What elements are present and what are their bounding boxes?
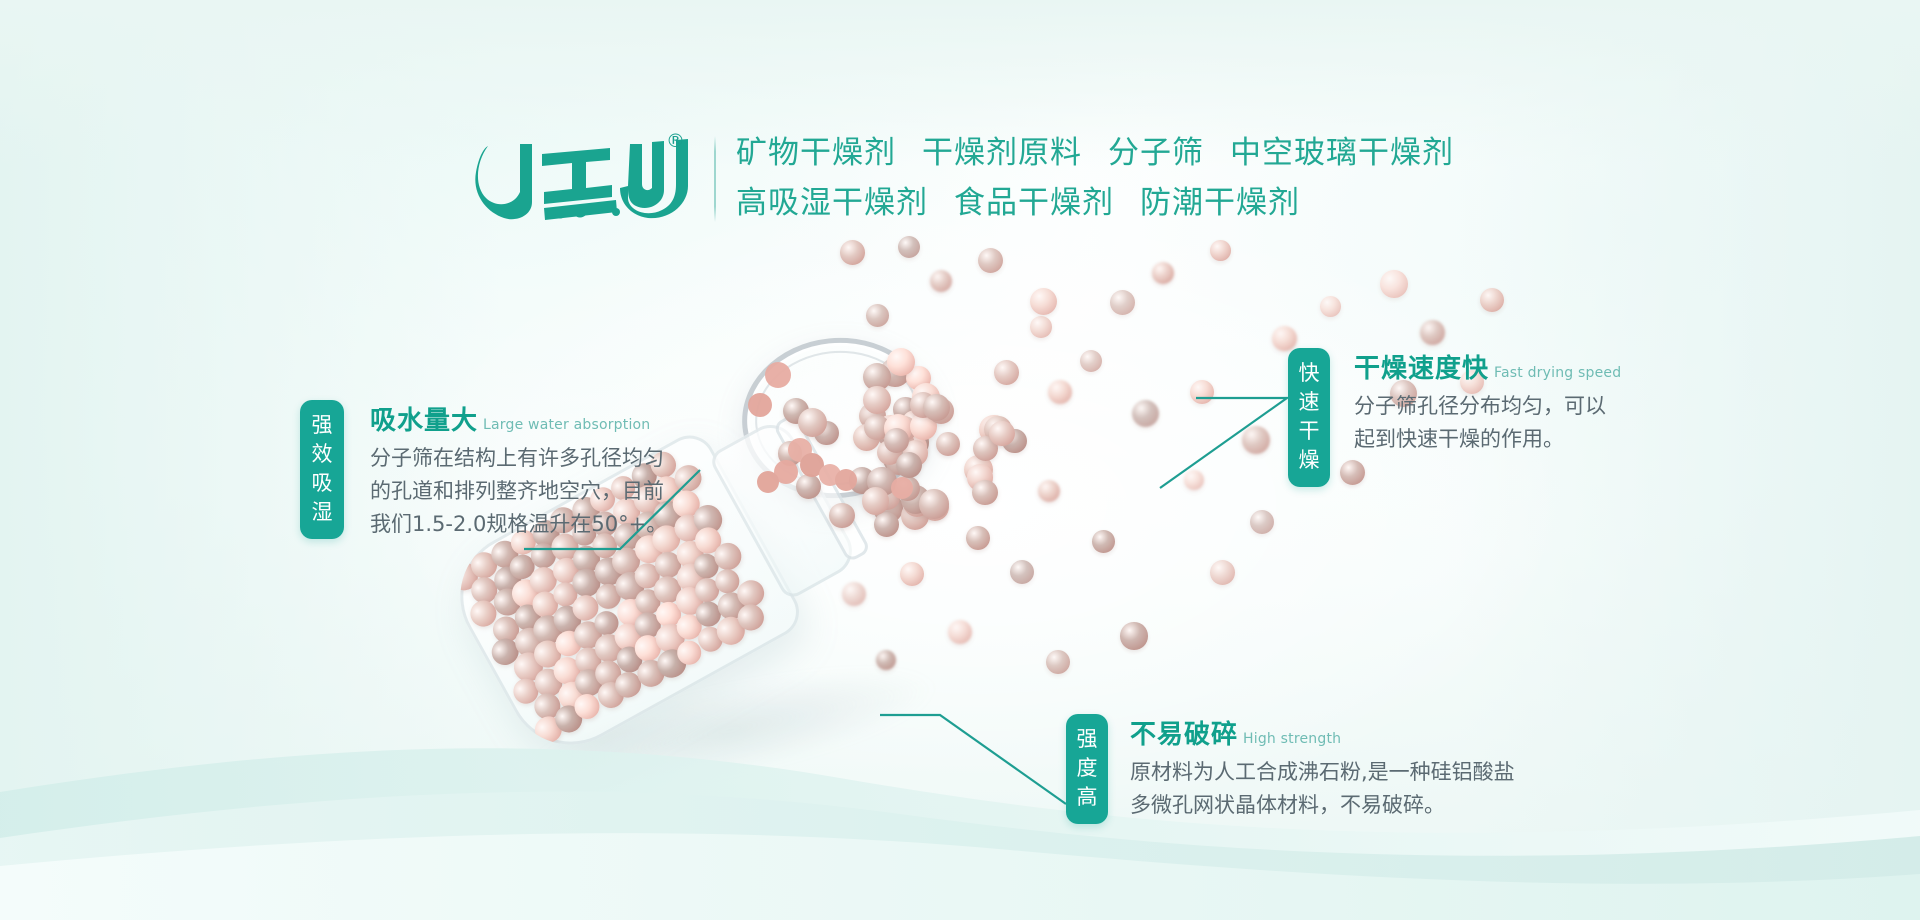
badge-char: 度 xyxy=(1066,754,1108,783)
callout-text: 不易破碎 High strength 原材料为人工合成沸石粉,是一种硅铝酸盐 多… xyxy=(1124,714,1515,822)
callout-badge: 强 效 吸 湿 xyxy=(300,400,344,539)
callout-fast-drying-speed: 快 速 干 燥 干燥速度快 Fast drying speed 分子筛孔径分布均… xyxy=(1288,348,1621,487)
callout-text: 干燥速度快 Fast drying speed 分子筛孔径分布均匀，可以 起到快… xyxy=(1346,348,1621,456)
keyword-list: 矿物干燥剂干燥剂原料分子筛中空玻璃干燥剂 高吸湿干燥剂食品干燥剂防潮干燥剂 xyxy=(736,128,1636,228)
callout-body-line: 分子筛在结构上有许多孔径均匀 xyxy=(370,442,667,475)
callout-title-en: High strength xyxy=(1243,731,1341,747)
callout-body-line: 的孔道和排列整齐地空穴，目前 xyxy=(370,475,667,508)
badge-char: 强 xyxy=(1066,725,1108,754)
callout-large-water-absorption: 强 效 吸 湿 吸水量大 Large water absorption 分子筛在… xyxy=(300,400,667,541)
badge-char: 高 xyxy=(1066,783,1108,812)
connector-top-right xyxy=(1160,398,1287,488)
keyword-line-2: 高吸湿干燥剂食品干燥剂防潮干燥剂 xyxy=(736,178,1636,228)
badge-char: 吸 xyxy=(300,469,344,498)
callout-title: 不易破碎 xyxy=(1130,714,1238,751)
banner-header: ® 矿物干燥剂干燥剂原料分子筛中空玻璃干燥剂 高吸湿干燥剂食品干燥剂防潮干燥剂 xyxy=(0,0,1920,250)
callout-badge: 快 速 干 燥 xyxy=(1288,348,1330,487)
callout-body-line: 原材料为人工合成沸石粉,是一种硅铝酸盐 xyxy=(1130,756,1515,789)
banner-stage: ® 矿物干燥剂干燥剂原料分子筛中空玻璃干燥剂 高吸湿干燥剂食品干燥剂防潮干燥剂 … xyxy=(0,0,1920,920)
callout-heading: 不易破碎 High strength xyxy=(1130,714,1515,751)
callout-high-strength: 强 度 高 不易破碎 High strength 原材料为人工合成沸石粉,是一种… xyxy=(1066,714,1515,824)
keyword-item[interactable]: 矿物干燥剂 xyxy=(736,135,896,171)
callout-title: 干燥速度快 xyxy=(1354,348,1489,385)
keyword-item[interactable]: 高吸湿干燥剂 xyxy=(736,185,928,221)
callout-body-line: 多微孔网状晶体材料，不易破碎。 xyxy=(1130,789,1515,822)
badge-char: 燥 xyxy=(1288,446,1330,475)
callout-body-line: 分子筛孔径分布均匀，可以 xyxy=(1354,390,1621,423)
badge-char: 速 xyxy=(1288,388,1330,417)
callout-body-line: 我们1.5-2.0规格温升在50°+。 xyxy=(370,508,667,541)
callout-body: 分子筛在结构上有许多孔径均匀 的孔道和排列整齐地空穴，目前 我们1.5-2.0规… xyxy=(370,442,667,541)
callout-title-en: Fast drying speed xyxy=(1494,365,1621,381)
callout-text: 吸水量大 Large water absorption 分子筛在结构上有许多孔径… xyxy=(360,400,667,541)
keyword-item[interactable]: 食品干燥剂 xyxy=(954,185,1114,221)
callout-body-line: 起到快速干燥的作用。 xyxy=(1354,423,1621,456)
keyword-item[interactable]: 防潮干燥剂 xyxy=(1140,185,1300,221)
brand-logo[interactable]: ® xyxy=(470,128,700,228)
registered-trademark-icon: ® xyxy=(666,130,685,152)
callout-title-en: Large water absorption xyxy=(483,417,650,433)
callout-title: 吸水量大 xyxy=(370,400,478,437)
badge-char: 快 xyxy=(1288,359,1330,388)
badge-char: 强 xyxy=(300,411,344,440)
header-divider xyxy=(714,136,716,222)
keyword-item[interactable]: 分子筛 xyxy=(1108,135,1204,171)
callout-body: 原材料为人工合成沸石粉,是一种硅铝酸盐 多微孔网状晶体材料，不易破碎。 xyxy=(1130,756,1515,822)
callout-badge: 强 度 高 xyxy=(1066,714,1108,824)
connector-bottom-right-horizontal xyxy=(880,715,1064,750)
callout-body: 分子筛孔径分布均匀，可以 起到快速干燥的作用。 xyxy=(1354,390,1621,456)
badge-char: 干 xyxy=(1288,417,1330,446)
keyword-item[interactable]: 中空玻璃干燥剂 xyxy=(1230,135,1454,171)
keyword-line-1: 矿物干燥剂干燥剂原料分子筛中空玻璃干燥剂 xyxy=(736,128,1636,178)
badge-char: 湿 xyxy=(300,498,344,527)
callout-heading: 干燥速度快 Fast drying speed xyxy=(1354,348,1621,385)
keyword-item[interactable]: 干燥剂原料 xyxy=(922,135,1082,171)
connector-bottom-right xyxy=(880,715,1066,804)
callout-heading: 吸水量大 Large water absorption xyxy=(370,400,667,437)
badge-char: 效 xyxy=(300,440,344,469)
